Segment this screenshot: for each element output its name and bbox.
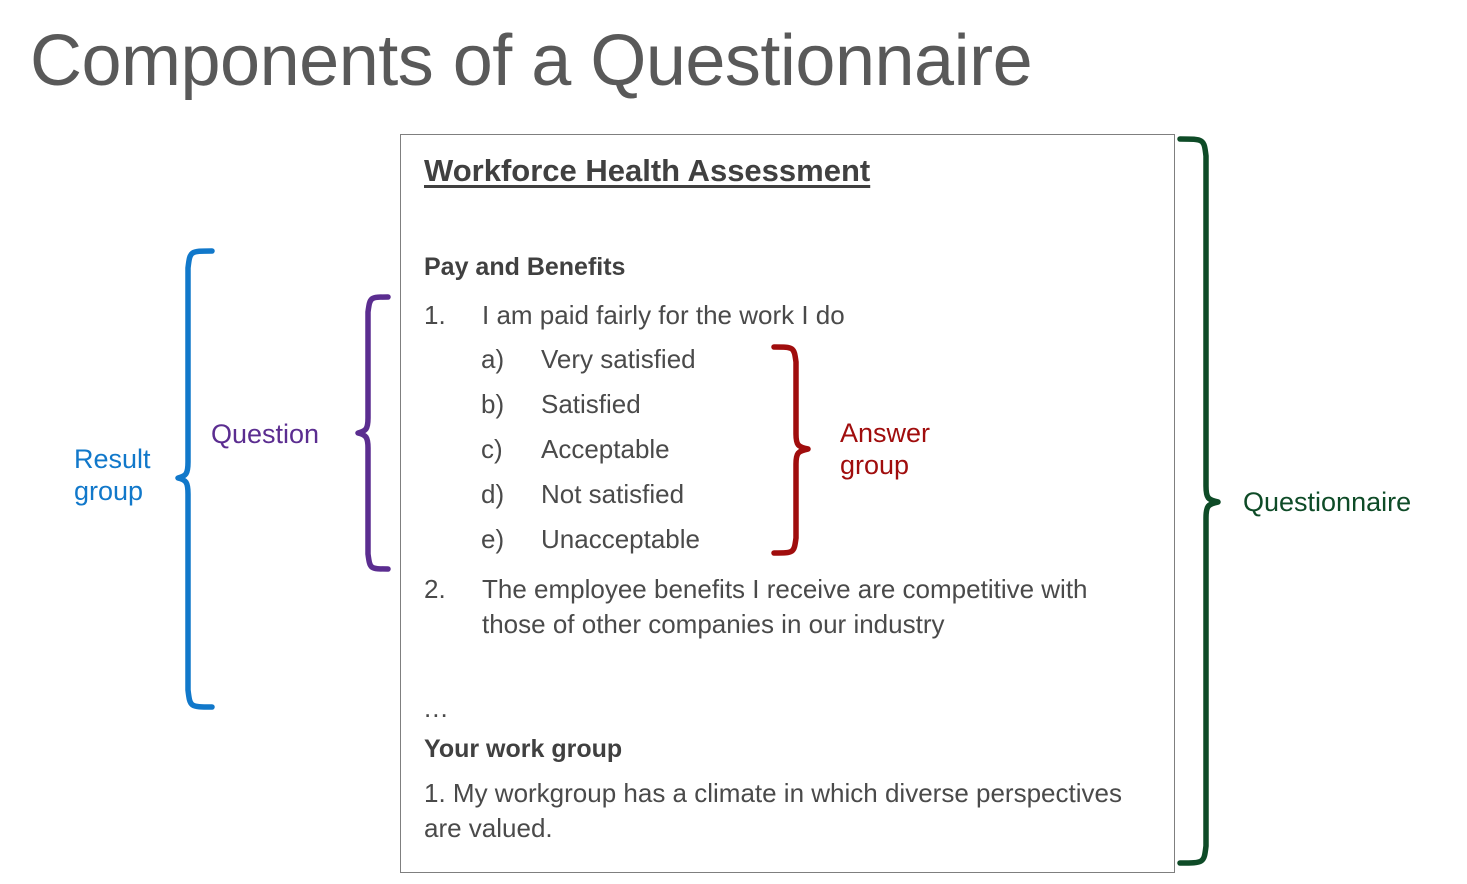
answer-option: c) Acceptable bbox=[481, 434, 670, 465]
answer-option: d) Not satisfied bbox=[481, 479, 684, 510]
answer-text: Satisfied bbox=[541, 389, 641, 420]
question-number: 1. bbox=[424, 298, 482, 333]
section-heading-your-work-group: Your work group bbox=[424, 735, 622, 764]
document-heading: Workforce Health Assessment bbox=[424, 153, 870, 189]
question-item-1: 1. I am paid fairly for the work I do bbox=[424, 298, 1124, 333]
brace-question bbox=[358, 292, 404, 582]
answer-option: b) Satisfied bbox=[481, 389, 641, 420]
question-item-workgroup-1: 1. My workgroup has a climate in which d… bbox=[424, 776, 1139, 846]
answer-option: a) Very satisfied bbox=[481, 344, 696, 375]
question-number: 2. bbox=[424, 572, 482, 642]
brace-label-answer-group: Answer group bbox=[840, 418, 930, 482]
question-text: The employee benefits I receive are comp… bbox=[482, 572, 1154, 642]
brace-result-group bbox=[178, 246, 238, 716]
question-text: I am paid fairly for the work I do bbox=[482, 298, 1124, 333]
answer-text: Very satisfied bbox=[541, 344, 696, 375]
answer-text: Unacceptable bbox=[541, 524, 700, 555]
question-item-2: 2. The employee benefits I receive are c… bbox=[424, 572, 1154, 642]
answer-letter: b) bbox=[481, 389, 541, 420]
brace-label-result-group: Result group bbox=[74, 444, 151, 508]
section-heading-pay-and-benefits: Pay and Benefits bbox=[424, 253, 625, 282]
brace-answer-group bbox=[772, 342, 818, 567]
answer-letter: e) bbox=[481, 524, 541, 555]
brace-label-questionnaire: Questionnaire bbox=[1243, 487, 1411, 519]
answer-letter: a) bbox=[481, 344, 541, 375]
answer-text: Acceptable bbox=[541, 434, 670, 465]
brace-questionnaire bbox=[1178, 134, 1238, 884]
page-title: Components of a Questionnaire bbox=[30, 22, 1032, 101]
ellipsis-continuation: ... bbox=[424, 693, 449, 724]
answer-letter: d) bbox=[481, 479, 541, 510]
answer-option: e) Unacceptable bbox=[481, 524, 700, 555]
answer-text: Not satisfied bbox=[541, 479, 684, 510]
answer-letter: c) bbox=[481, 434, 541, 465]
brace-label-question: Question bbox=[211, 419, 319, 451]
